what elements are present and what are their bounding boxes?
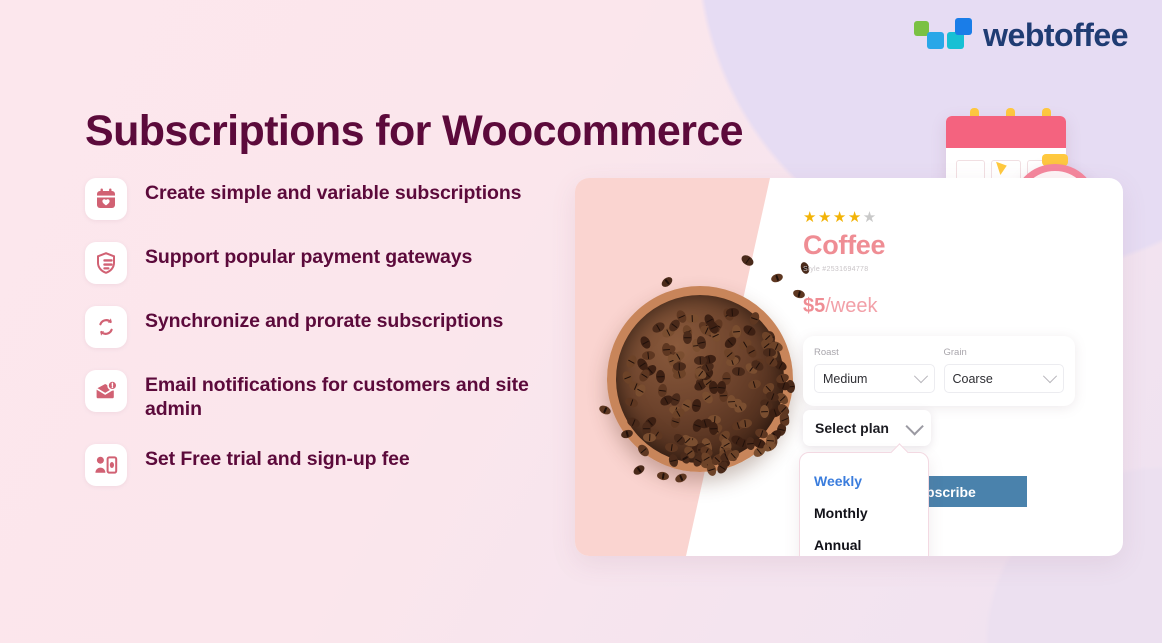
- price-amount: $5: [803, 295, 825, 317]
- list-item: Support popular payment gateways: [85, 242, 565, 284]
- chevron-down-icon: [913, 369, 927, 383]
- logo-wordmark: webtoffee: [983, 19, 1128, 51]
- product-name: Coffee: [803, 232, 1097, 259]
- list-item-label: Create simple and variable subscriptions: [145, 178, 521, 206]
- plan-option-monthly[interactable]: Monthly: [800, 497, 928, 529]
- grain-value: Coarse: [953, 372, 993, 386]
- coffee-bean: [741, 323, 757, 338]
- list-item-label: Email notifications for customers and si…: [145, 370, 565, 422]
- coffee-bean: [696, 335, 707, 350]
- roast-label: Roast: [814, 347, 935, 358]
- product-image: [575, 178, 825, 556]
- product-card: ★★★★★ Coffee Style #2531694778 $5/week R…: [575, 178, 1123, 556]
- list-item-label: Synchronize and prorate subscriptions: [145, 306, 503, 334]
- coffee-bean: [642, 433, 655, 443]
- product-price: $5/week: [803, 295, 1097, 318]
- plan-option-weekly[interactable]: Weekly: [800, 465, 928, 497]
- grain-option: Grain Coarse: [944, 347, 1065, 393]
- logo-square-darkblue-icon: [955, 18, 972, 35]
- calendar-header: [946, 116, 1066, 148]
- list-item-label: Support popular payment gateways: [145, 242, 472, 270]
- coffee-bean: [738, 418, 752, 429]
- list-item: Synchronize and prorate subscriptions: [85, 306, 565, 348]
- coffee-bean: [726, 395, 736, 409]
- grain-label: Grain: [944, 347, 1065, 358]
- grain-select[interactable]: Coarse: [944, 364, 1065, 393]
- chevron-down-icon: [905, 417, 923, 435]
- coffee-bean: [745, 344, 759, 360]
- coffee-bowl-image: [607, 286, 793, 472]
- price-period: /week: [825, 295, 877, 317]
- webtoffee-logo: webtoffee: [914, 17, 1128, 52]
- roast-value: Medium: [823, 372, 867, 386]
- coffee-bean: [667, 453, 679, 468]
- chevron-down-icon: [1043, 369, 1057, 383]
- list-item-label: Set Free trial and sign-up fee: [145, 444, 410, 472]
- product-style-code: Style #2531694778: [803, 266, 1097, 273]
- roast-select[interactable]: Medium: [814, 364, 935, 393]
- coffee-bean: [726, 308, 740, 318]
- product-options: Roast Medium Grain Coarse: [803, 336, 1075, 406]
- coffee-bean: [664, 442, 678, 453]
- coffee-bean: [638, 334, 652, 350]
- coffee-bean: [686, 314, 699, 324]
- page-title: Subscriptions for Woocommerce: [85, 107, 845, 156]
- coffee-bean: [624, 396, 639, 409]
- sync-arrows-icon: [85, 306, 127, 348]
- email-notification-icon: [85, 370, 127, 412]
- feature-list: Create simple and variable subscriptions…: [85, 178, 565, 508]
- coffee-bean: [732, 367, 746, 377]
- coffee-bean: [747, 378, 762, 390]
- roast-option: Roast Medium: [814, 347, 935, 393]
- coffee-bean: [691, 398, 702, 412]
- coffee-bean: [655, 370, 665, 383]
- payment-shield-icon: [85, 242, 127, 284]
- promo-banner: webtoffee Subscriptions for Woocommerce …: [0, 0, 1162, 643]
- logo-square-blue-icon: [927, 32, 944, 49]
- logo-squares-icon: [914, 17, 972, 52]
- rating-stars: ★★★★★: [803, 208, 1097, 226]
- coffee-bean: [626, 416, 641, 429]
- coffee-bean: [760, 405, 769, 418]
- coffee-bean: [683, 331, 692, 344]
- plan-select-value: Select plan: [815, 420, 889, 436]
- person-money-icon: [85, 444, 127, 486]
- list-item: Email notifications for customers and si…: [85, 370, 565, 422]
- plan-select[interactable]: Select plan: [803, 410, 931, 446]
- plan-option-annual[interactable]: Annual: [800, 529, 928, 556]
- coffee-bean: [748, 311, 761, 326]
- list-item: Create simple and variable subscriptions: [85, 178, 565, 220]
- list-item: Set Free trial and sign-up fee: [85, 444, 565, 486]
- plan-dropdown-menu: Weekly Monthly Annual: [799, 452, 929, 556]
- calendar-heart-icon: [85, 178, 127, 220]
